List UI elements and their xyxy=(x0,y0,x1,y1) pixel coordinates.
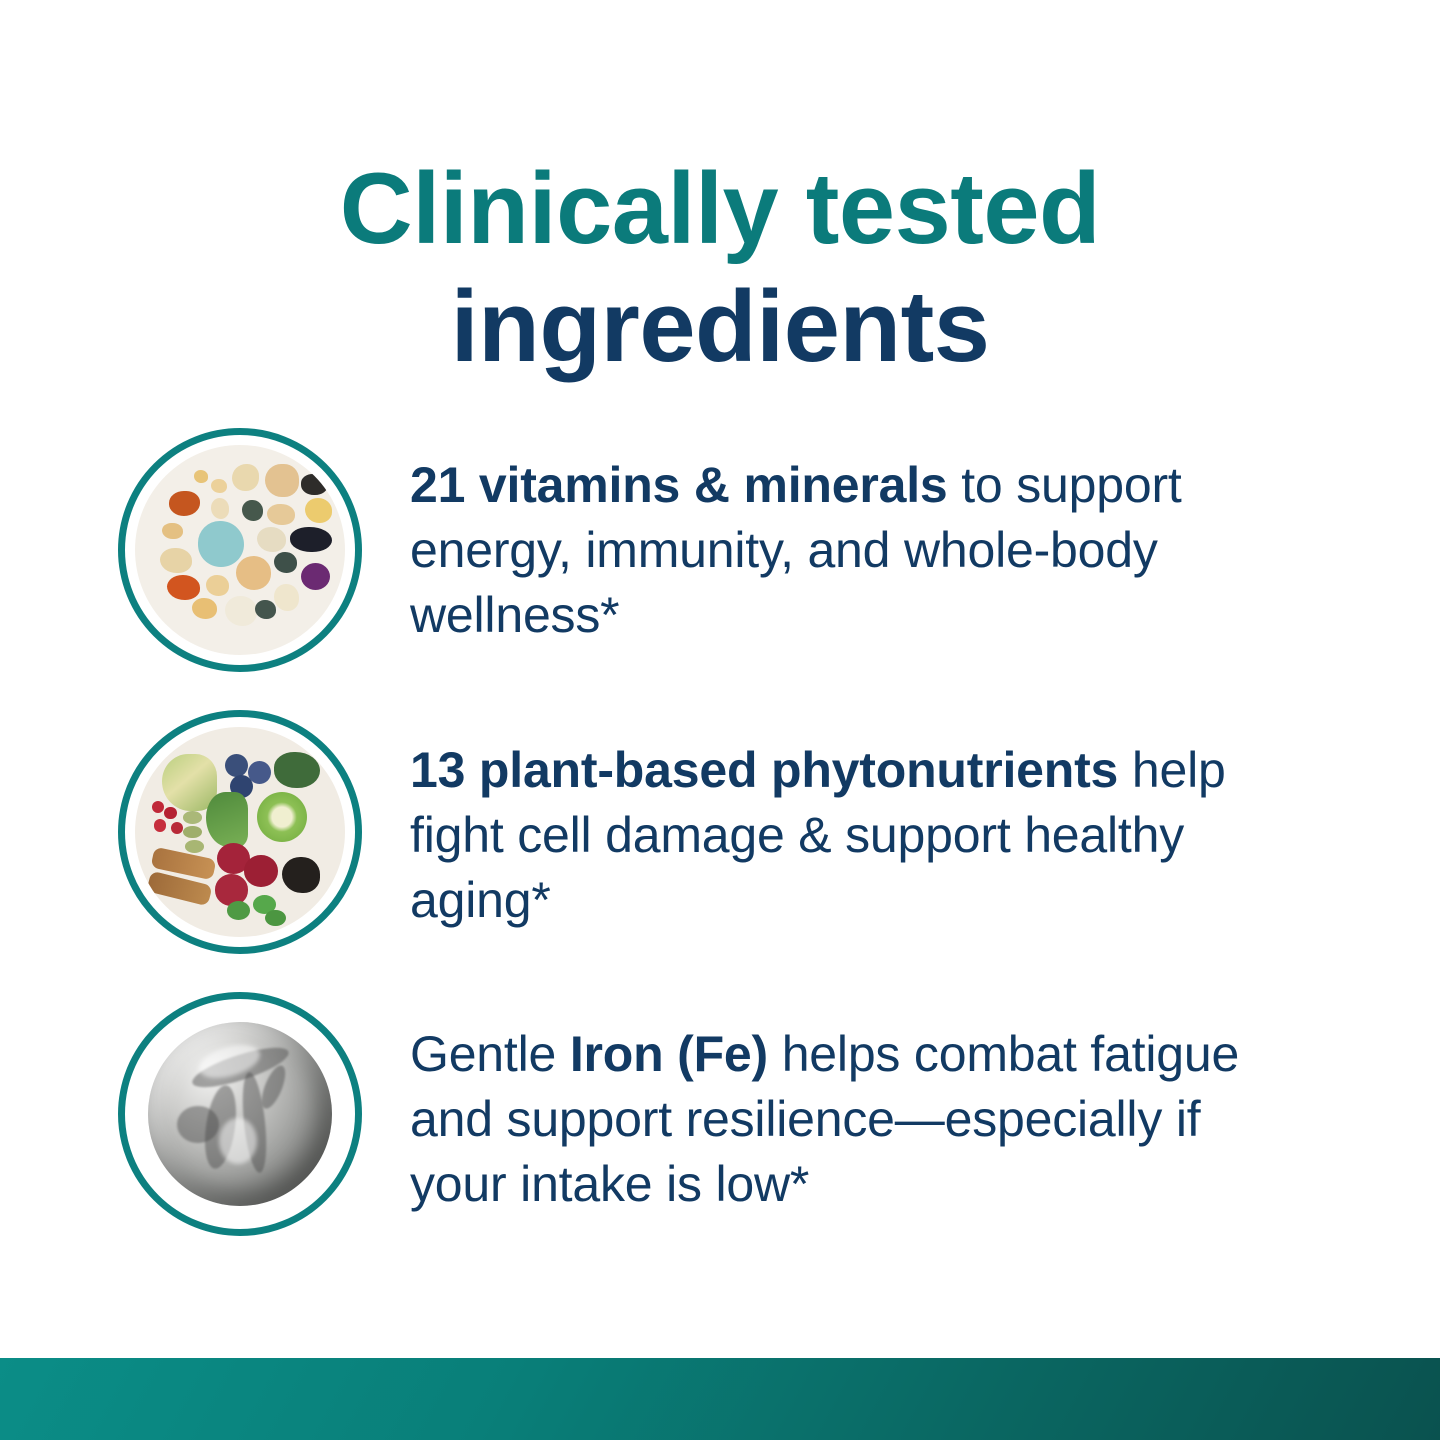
icon-ring xyxy=(118,710,362,954)
benefit-row-iron: Gentle Iron (Fe) helps combat fatigue an… xyxy=(0,992,1440,1236)
benefit-list: 21 vitamins & minerals to support energy… xyxy=(0,428,1440,1274)
benefit-bold-iron: Iron (Fe) xyxy=(570,1026,768,1082)
iron-disc-icon xyxy=(118,992,362,1236)
infographic-page: Clinically tested ingredients xyxy=(0,0,1440,1440)
benefit-text-vitamins: 21 vitamins & minerals to support energy… xyxy=(362,453,1440,648)
page-title-line-2: ingredients xyxy=(0,268,1440,386)
benefit-text-phytonutrients: 13 plant-based phytonutrients help fight… xyxy=(362,710,1440,933)
page-title: Clinically tested ingredients xyxy=(0,150,1440,386)
vitamins-minerals-plate-icon xyxy=(118,428,362,672)
icon-ring xyxy=(118,992,362,1236)
phytonutrients-plate-photo xyxy=(135,727,345,937)
benefit-lead-iron: Gentle xyxy=(410,1026,570,1082)
phytonutrients-plate-icon xyxy=(118,710,362,954)
icon-ring xyxy=(118,428,362,672)
page-title-line-1: Clinically tested xyxy=(0,150,1440,268)
iron-disc-photo xyxy=(135,1009,345,1219)
benefit-bold-phytonutrients: 13 plant-based phytonutrients xyxy=(410,742,1118,798)
benefit-row-vitamins: 21 vitamins & minerals to support energy… xyxy=(0,428,1440,672)
benefit-row-phytonutrients: 13 plant-based phytonutrients help fight… xyxy=(0,710,1440,954)
minerals-plate-photo xyxy=(135,445,345,655)
benefit-bold-vitamins: 21 vitamins & minerals xyxy=(410,457,948,513)
footer-gradient-bar xyxy=(0,1358,1440,1440)
benefit-text-iron: Gentle Iron (Fe) helps combat fatigue an… xyxy=(362,992,1440,1217)
